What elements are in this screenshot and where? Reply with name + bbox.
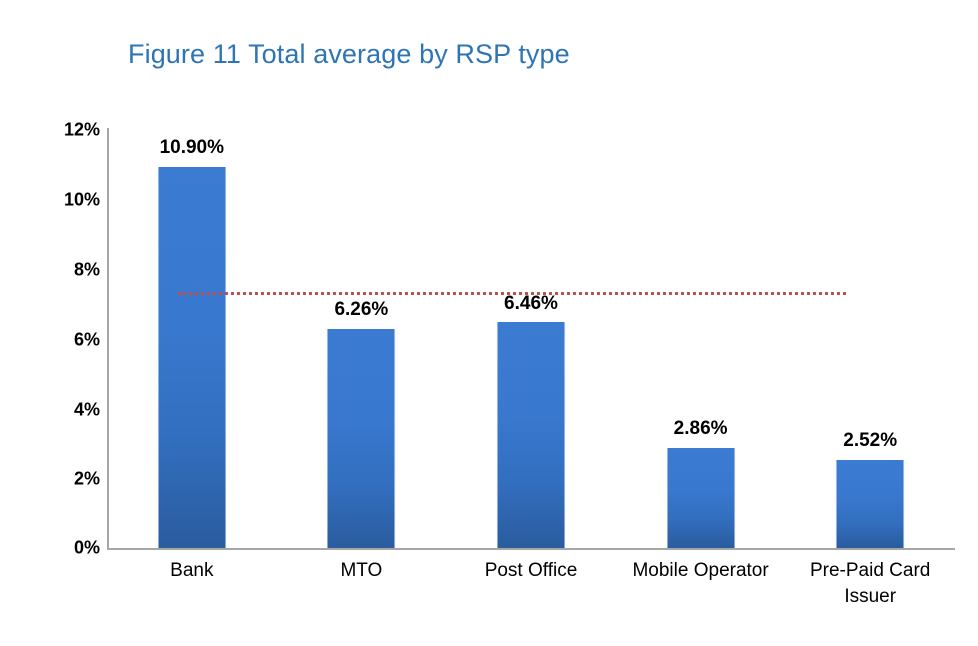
bar-post-office[interactable] [497,322,564,548]
y-tick-label-8: 8% [44,260,100,281]
bar-group-pre-paid-card-issuer: 2.52% [785,128,955,548]
y-tick-label-6: 6% [44,330,100,351]
plot-area: 10.90% 6.26% 6.46% 2.86% 2.52% [107,128,955,548]
bar-group-mto: 6.26% [277,128,447,548]
bar-group-post-office: 6.46% [446,128,616,548]
x-label-pre-paid-card-issuer: Pre-Paid Card Issuer [785,558,955,610]
bar-value-mto: 6.26% [334,299,388,321]
x-axis-line [107,548,955,550]
bar-mto[interactable] [328,329,395,548]
x-label-mto: MTO [277,558,447,584]
x-label-post-office: Post Office [446,558,616,584]
bar-pre-paid-card-issuer[interactable] [837,460,904,548]
chart-title: Figure 11 Total average by RSP type [128,37,570,71]
x-label-bank: Bank [107,558,277,584]
bar-value-mobile-operator: 2.86% [674,418,728,440]
bar-value-pre-paid-card-issuer: 2.52% [843,430,897,452]
y-tick-label-10: 10% [44,190,100,211]
chart-figure: Figure 11 Total average by RSP type 12% … [0,0,978,646]
bar-bank[interactable] [158,167,225,549]
y-tick-label-0: 0% [44,538,100,559]
x-label-mobile-operator: Mobile Operator [616,558,786,584]
y-tick-label-12: 12% [44,120,100,141]
bar-group-mobile-operator: 2.86% [616,128,786,548]
bar-value-post-office: 6.46% [504,293,558,315]
y-tick-label-2: 2% [44,469,100,490]
x-axis-category-labels: Bank MTO Post Office Mobile Operator Pre… [107,558,955,638]
bar-value-bank: 10.90% [160,137,224,159]
bar-group-bank: 10.90% [107,128,277,548]
average-reference-line [178,292,846,295]
y-tick-label-4: 4% [44,400,100,421]
bar-mobile-operator[interactable] [667,448,734,548]
y-axis-tick-labels: 12% 10% 8% 6% 4% 2% 0% [38,0,100,646]
